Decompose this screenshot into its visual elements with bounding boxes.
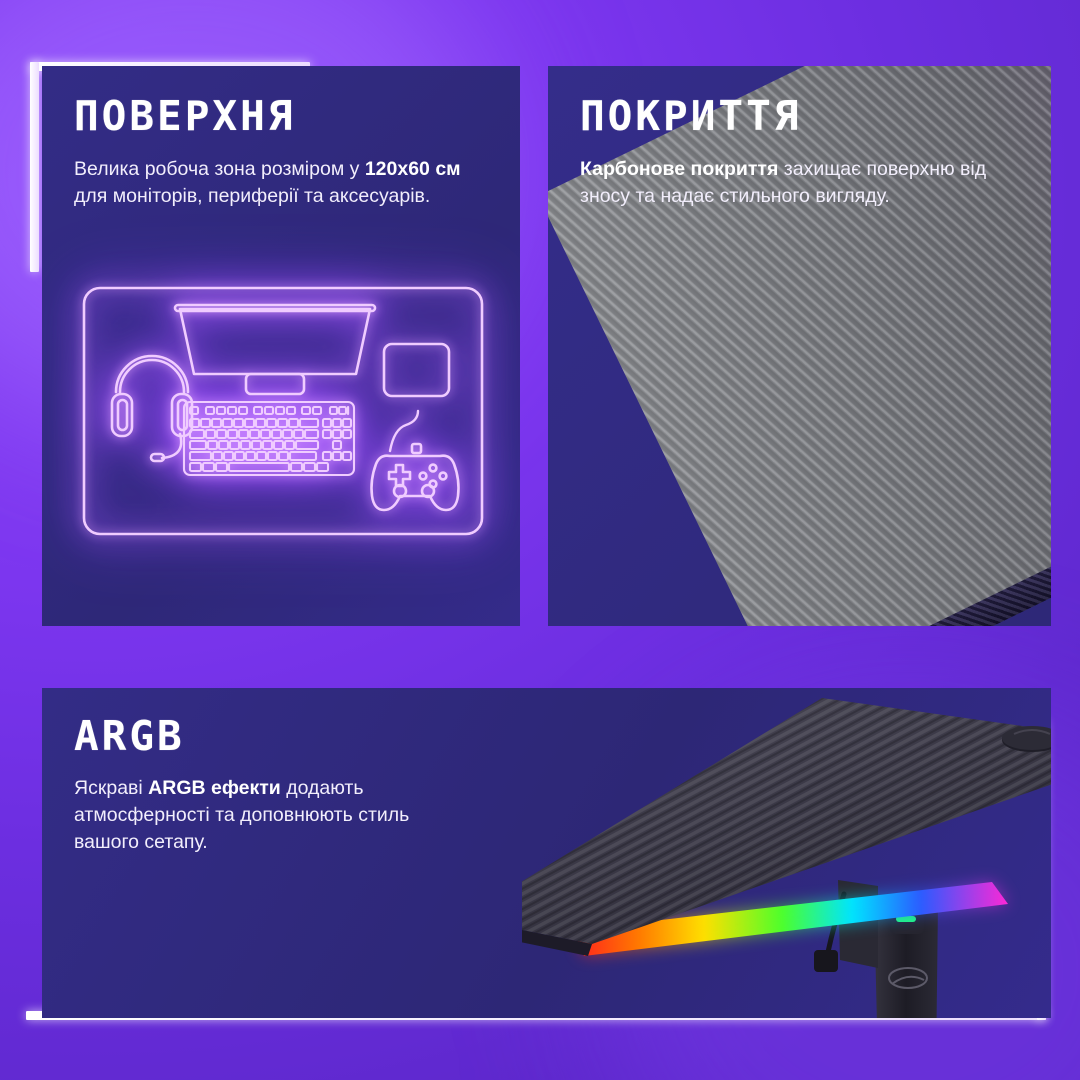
desc-part: для моніторів, периферії та аксесуарів. (74, 185, 430, 207)
card-surface: ПОВЕРХНЯ Велика робоча зона розміром у 1… (42, 66, 520, 626)
card-coating-headline: ПОКРИТТЯ (580, 96, 1017, 137)
card-surface-description: Велика робоча зона розміром у 120x60 см … (74, 156, 474, 210)
bracket-vertical-bar (30, 62, 39, 272)
card-argb-description: Яскраві ARGB ефекти додають атмосферност… (74, 775, 474, 856)
card-coating-text: ПОКРИТТЯ Карбонове покриття захищає пове… (548, 66, 1051, 210)
card-argb-text: ARGB Яскраві ARGB ефекти додають атмосфе… (42, 688, 1051, 856)
keyboard (184, 402, 354, 475)
card-surface-headline: ПОВЕРХНЯ (74, 96, 486, 137)
mouse-pad (384, 344, 449, 396)
poster-stage: ПОВЕРХНЯ Велика робоча зона розміром у 1… (0, 0, 1080, 1080)
monitor-screen (180, 309, 370, 374)
card-coating: ПОКРИТТЯ Карбонове покриття захищає пове… (548, 66, 1051, 626)
gamepad (372, 411, 459, 510)
desc-part-bold: 120x60 см (365, 158, 461, 180)
card-argb-headline: ARGB (74, 716, 1017, 757)
card-argb: 72 1 2 ∧ ∨ ARGB Яскраві ARGB ефекти дода… (42, 688, 1051, 1018)
desc-part-bold: Карбонове покриття (580, 158, 778, 180)
desc-part: Яскраві (74, 777, 148, 799)
headset (112, 356, 192, 461)
desc-part: Велика робоча зона розміром у (74, 158, 365, 180)
monitor-stand (246, 374, 304, 394)
card-coating-description: Карбонове покриття захищає поверхню від … (580, 156, 1017, 210)
desc-part-bold: ARGB ефекти (148, 777, 281, 799)
card-surface-text: ПОВЕРХНЯ Велика робоча зона розміром у 1… (42, 66, 520, 210)
neon-desk-illustration (68, 276, 498, 546)
power-plug (814, 950, 838, 972)
